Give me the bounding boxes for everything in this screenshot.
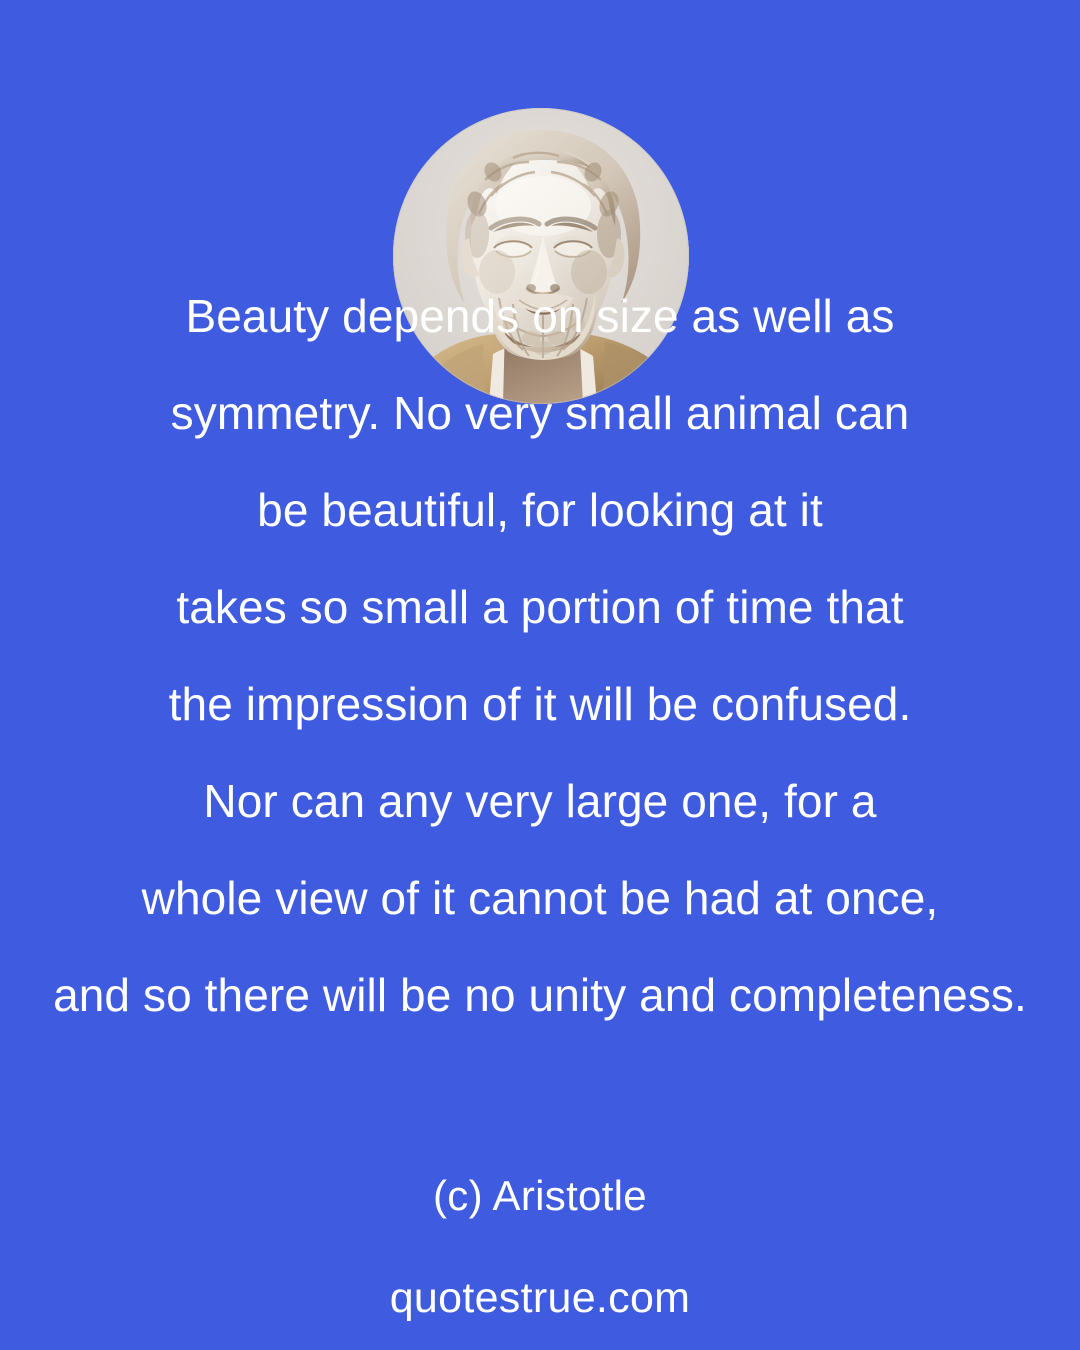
quote-line: whole view of it cannot be had at once, [0,850,1080,947]
quote-card: Beauty depends on size as well as symmet… [0,0,1080,1350]
quote-line: Beauty depends on size as well as [0,268,1080,365]
quote-line: the impression of it will be confused. [0,656,1080,753]
quote-line: and so there will be no unity and comple… [0,947,1080,1044]
quote-text: Beauty depends on size as well as symmet… [0,268,1080,1044]
quote-line: symmetry. No very small animal can [0,365,1080,462]
quote-line: takes so small a portion of time that [0,559,1080,656]
quote-line: Nor can any very large one, for a [0,753,1080,850]
quote-line: be beautiful, for looking at it [0,462,1080,559]
source-watermark: quotestrue.com [0,1274,1080,1323]
quote-attribution: (c) Aristotle [0,1172,1080,1220]
